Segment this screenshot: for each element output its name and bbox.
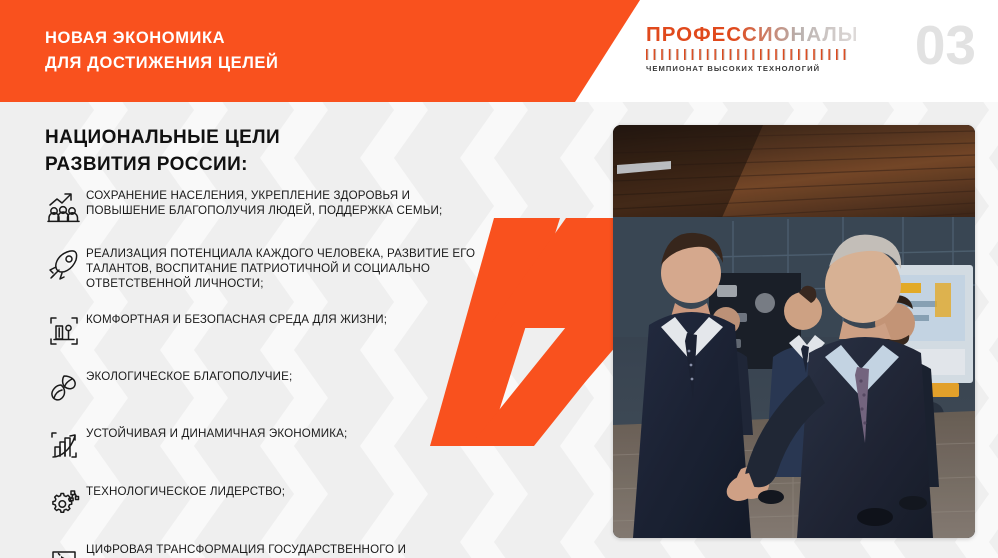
officials-walking-exhibition-photo [613, 125, 975, 538]
list-item-label: ТЕХНОЛОГИЧЕСКОЕ ЛИДЕРСТВО; [86, 482, 492, 499]
list-item-label: УСТОЙЧИВАЯ И ДИНАМИЧНАЯ ЭКОНОМИКА; [86, 424, 492, 441]
gear-tech-icon [42, 482, 86, 522]
presentation-slide: НОВАЯ ЭКОНОМИКАДЛЯ ДОСТИЖЕНИЯ ЦЕЛЕЙ ПРОФ… [0, 0, 998, 558]
header-title-line2: ДЛЯ ДОСТИЖЕНИЯ ЦЕЛЕЙ [45, 51, 278, 76]
list-item-label: СОХРАНЕНИЕ НАСЕЛЕНИЯ, УКРЕПЛЕНИЕ ЗДОРОВЬ… [86, 186, 492, 218]
city-environment-icon [42, 310, 86, 350]
list-item: ТЕХНОЛОГИЧЕСКОЕ ЛИДЕРСТВО; [42, 482, 492, 522]
page-title: НАЦИОНАЛЬНЫЕ ЦЕЛИ РАЗВИТИЯ РОССИИ: [45, 124, 280, 178]
championship-logo: ПРОФЕССИОНАЛЫ [646, 24, 856, 73]
list-item-label: ЭКОЛОГИЧЕСКОЕ БЛАГОПОЛУЧИЕ; [86, 367, 492, 384]
page-title-line2: РАЗВИТИЯ РОССИИ: [45, 151, 280, 178]
list-item: КОМФОРТНАЯ И БЕЗОПАСНАЯ СРЕДА ДЛЯ ЖИЗНИ; [42, 310, 492, 350]
population-growth-icon [42, 186, 86, 226]
list-item-label: РЕАЛИЗАЦИЯ ПОТЕНЦИАЛА КАЖДОГО ЧЕЛОВЕКА, … [86, 244, 492, 292]
list-item: ЦИФРОВАЯ ТРАНСФОРМАЦИЯ ГОСУДАРСТВЕННОГО … [42, 540, 492, 558]
logo-barcode-icon [646, 49, 852, 60]
list-item: РЕАЛИЗАЦИЯ ПОТЕНЦИАЛА КАЖДОГО ЧЕЛОВЕКА, … [42, 244, 492, 292]
header-title: НОВАЯ ЭКОНОМИКАДЛЯ ДОСТИЖЕНИЯ ЦЕЛЕЙ [45, 26, 278, 76]
slide-number: 03 [915, 14, 976, 76]
leaves-ecology-icon [42, 367, 86, 407]
list-item-label: КОМФОРТНАЯ И БЕЗОПАСНАЯ СРЕДА ДЛЯ ЖИЗНИ; [86, 310, 492, 327]
logo-wordmark: ПРОФЕССИОНАЛЫ [646, 24, 856, 46]
header-title-line1: НОВАЯ ЭКОНОМИКА [45, 29, 225, 47]
laptop-cursor-icon [42, 540, 86, 558]
page-title-line1: НАЦИОНАЛЬНЫЕ ЦЕЛИ [45, 124, 280, 151]
list-item: ЭКОЛОГИЧЕСКОЕ БЛАГОПОЛУЧИЕ; [42, 367, 492, 407]
list-item: УСТОЙЧИВАЯ И ДИНАМИЧНАЯ ЭКОНОМИКА; [42, 424, 492, 464]
growth-chart-icon [42, 424, 86, 464]
logo-subtitle: ЧЕМПИОНАТ ВЫСОКИХ ТЕХНОЛОГИЙ [646, 64, 856, 73]
slide-header: НОВАЯ ЭКОНОМИКАДЛЯ ДОСТИЖЕНИЯ ЦЕЛЕЙ ПРОФ… [0, 0, 998, 102]
national-goals-list: СОХРАНЕНИЕ НАСЕЛЕНИЯ, УКРЕПЛЕНИЕ ЗДОРОВЬ… [42, 186, 492, 558]
list-item: СОХРАНЕНИЕ НАСЕЛЕНИЯ, УКРЕПЛЕНИЕ ЗДОРОВЬ… [42, 186, 492, 226]
list-item-label: ЦИФРОВАЯ ТРАНСФОРМАЦИЯ ГОСУДАРСТВЕННОГО … [86, 540, 492, 558]
rocket-icon [42, 244, 86, 284]
